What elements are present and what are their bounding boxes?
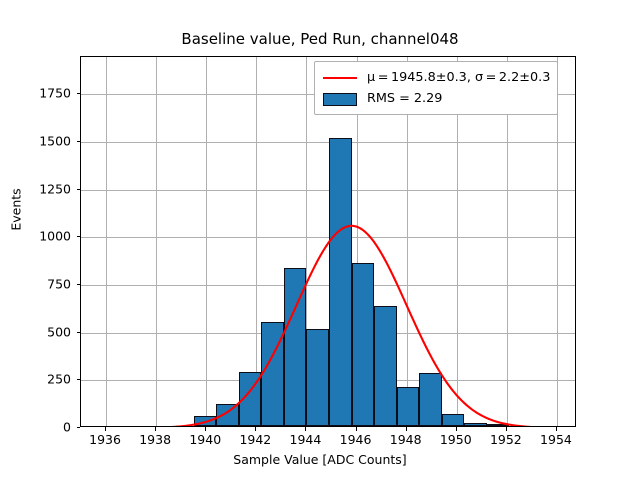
x-tick-label: 1954 bbox=[540, 432, 572, 447]
x-tick-mark bbox=[406, 427, 407, 431]
x-tick-mark bbox=[506, 427, 507, 431]
x-tick-label: 1948 bbox=[390, 432, 422, 447]
legend-item-fit: μ = 1945.8±0.3, σ = 2.2±0.3 bbox=[322, 67, 550, 88]
x-tick-mark bbox=[356, 427, 357, 431]
x-tick-mark bbox=[255, 427, 256, 431]
y-axis-label: Events bbox=[9, 110, 24, 310]
legend-patch-swatch bbox=[322, 91, 358, 107]
x-tick-label: 1952 bbox=[490, 432, 522, 447]
legend-label-fit: μ = 1945.8±0.3, σ = 2.2±0.3 bbox=[367, 70, 550, 85]
x-tick-mark bbox=[456, 427, 457, 431]
x-tick-label: 1944 bbox=[290, 432, 322, 447]
y-tick-label: 250 bbox=[0, 372, 71, 387]
y-tick-mark bbox=[77, 236, 81, 237]
y-tick-mark bbox=[77, 93, 81, 94]
x-tick-label: 1936 bbox=[89, 432, 121, 447]
y-tick-mark bbox=[77, 189, 81, 190]
x-tick-label: 1950 bbox=[440, 432, 472, 447]
x-tick-label: 1942 bbox=[239, 432, 271, 447]
y-tick-mark bbox=[77, 427, 81, 428]
legend-line-swatch bbox=[322, 70, 358, 86]
legend-label-rms: RMS = 2.29 bbox=[367, 91, 442, 106]
y-tick-mark bbox=[77, 141, 81, 142]
fit-path bbox=[81, 226, 576, 427]
chart-title: Baseline value, Ped Run, channel048 bbox=[0, 30, 640, 48]
x-tick-mark bbox=[305, 427, 306, 431]
x-tick-label: 1940 bbox=[189, 432, 221, 447]
y-tick-label: 0 bbox=[0, 420, 71, 435]
legend: μ = 1945.8±0.3, σ = 2.2±0.3 RMS = 2.29 bbox=[314, 61, 558, 115]
y-tick-mark bbox=[77, 332, 81, 333]
x-axis-label: Sample Value [ADC Counts] bbox=[0, 452, 640, 467]
y-tick-mark bbox=[77, 284, 81, 285]
x-tick-mark bbox=[205, 427, 206, 431]
y-tick-label: 1750 bbox=[0, 86, 71, 101]
y-tick-mark bbox=[77, 379, 81, 380]
legend-item-rms: RMS = 2.29 bbox=[322, 88, 550, 109]
x-tick-mark bbox=[155, 427, 156, 431]
x-tick-label: 1946 bbox=[340, 432, 372, 447]
y-tick-label: 500 bbox=[0, 324, 71, 339]
x-tick-mark bbox=[556, 427, 557, 431]
x-tick-label: 1938 bbox=[139, 432, 171, 447]
x-tick-mark bbox=[105, 427, 106, 431]
matplotlib-figure: Baseline value, Ped Run, channel048 1936… bbox=[0, 0, 640, 480]
